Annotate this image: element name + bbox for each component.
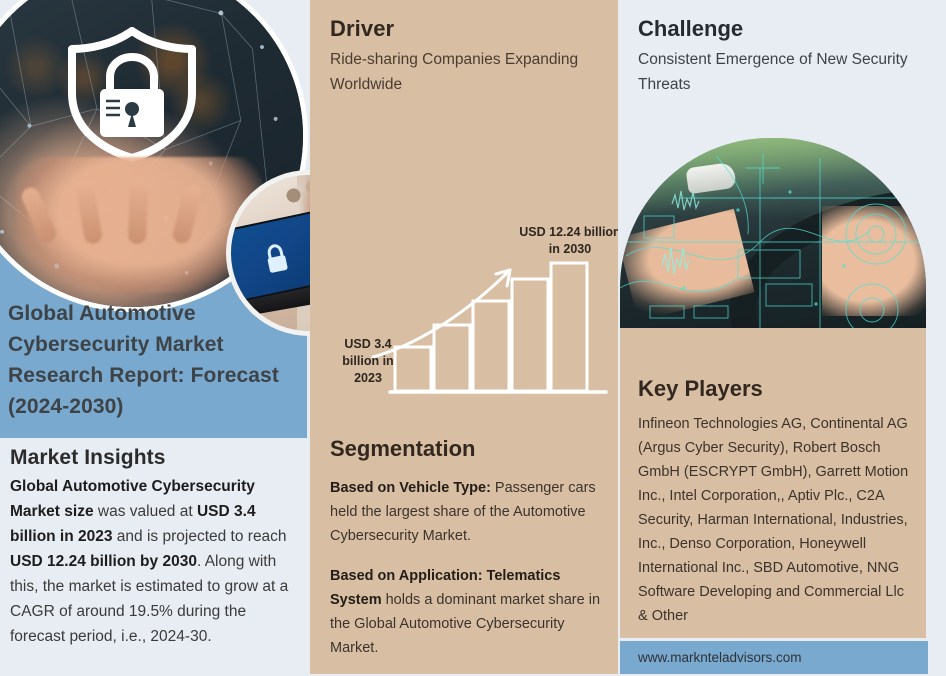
market-insights-heading: Market Insights bbox=[10, 446, 302, 470]
segment-item-application: Based on Application: Telematics System … bbox=[330, 564, 604, 660]
left-column: Global Automotive Cybersecurity Market R… bbox=[0, 0, 310, 674]
lock-icon bbox=[261, 241, 293, 276]
chart-bar-2 bbox=[434, 325, 470, 391]
market-insights-block: Market Insights Global Automotive Cybers… bbox=[10, 446, 302, 649]
car-driving-image bbox=[620, 138, 926, 328]
key-players-heading: Key Players bbox=[638, 376, 910, 402]
insight-plain-1: was valued at bbox=[94, 503, 197, 520]
chart-bar-4 bbox=[512, 279, 548, 391]
hand-decoration bbox=[16, 157, 262, 294]
insight-bold-3: USD 12.24 billion by 2030 bbox=[10, 553, 197, 570]
challenge-heading: Challenge bbox=[638, 16, 928, 42]
driver-text: Ride-sharing Companies Expanding Worldwi… bbox=[330, 47, 602, 97]
car-image-shape bbox=[620, 138, 926, 328]
page-title: Global Automotive Cybersecurity Market R… bbox=[8, 298, 298, 422]
challenge-block: Challenge Consistent Emergence of New Se… bbox=[638, 16, 928, 97]
key-players-block: Key Players Infineon Technologies AG, Co… bbox=[638, 376, 910, 628]
infographic-page: Global Automotive Cybersecurity Market R… bbox=[0, 0, 946, 674]
website-url-text[interactable]: www.marknteladvisors.com bbox=[620, 650, 802, 665]
hud-overlay-icon bbox=[620, 138, 926, 328]
chart-end-label: USD 12.24 billion in 2030 bbox=[518, 224, 622, 258]
insight-plain-2: and is projected to reach bbox=[113, 528, 287, 545]
key-players-text: Infineon Technologies AG, Continental AG… bbox=[638, 412, 910, 628]
website-url-bar[interactable]: www.marknteladvisors.com bbox=[620, 641, 928, 674]
driver-block: Driver Ride-sharing Companies Expanding … bbox=[330, 16, 602, 97]
segmentation-block: Segmentation Based on Vehicle Type: Pass… bbox=[330, 436, 604, 676]
segmentation-heading: Segmentation bbox=[330, 436, 604, 462]
challenge-text: Consistent Emergence of New Security Thr… bbox=[638, 47, 928, 97]
shield-lock-icon bbox=[62, 27, 202, 162]
market-insights-text: Global Automotive Cybersecurity Market s… bbox=[10, 474, 302, 649]
driver-heading: Driver bbox=[330, 16, 602, 42]
growth-bar-chart: USD 3.4 billion in 2023 USD 12.24 billio… bbox=[310, 214, 618, 428]
chart-bar-5 bbox=[551, 263, 587, 391]
segment-label-1: Based on Vehicle Type: bbox=[330, 480, 491, 496]
chart-start-label: USD 3.4 billion in 2023 bbox=[328, 336, 408, 387]
segment-item-vehicle-type: Based on Vehicle Type: Passenger cars he… bbox=[330, 476, 604, 548]
chart-bar-3 bbox=[473, 301, 509, 391]
